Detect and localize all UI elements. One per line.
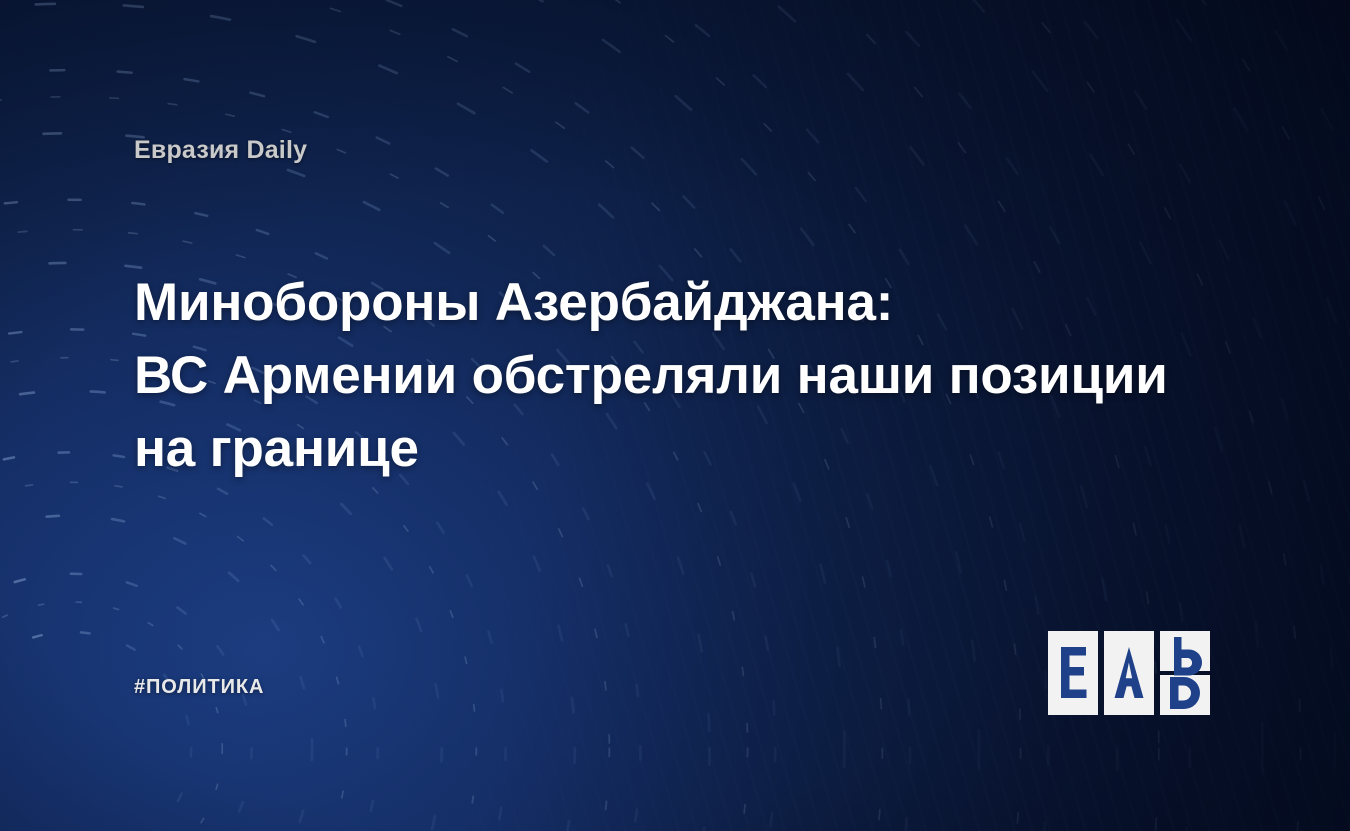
headline-line-1: Минобороны Азербайджана: — [134, 266, 1224, 339]
page-title: Минобороны Азербайджана: ВС Армении обст… — [134, 266, 1224, 485]
headline-line-2: ВС Армении обстреляли наши позиции — [134, 339, 1224, 412]
headline-line-3: на границе — [134, 412, 1224, 485]
ead-logo[interactable] — [1048, 631, 1224, 715]
category-hashtag[interactable]: #ПОЛИТИКА — [134, 676, 264, 699]
brand-name: Евразия Daily — [134, 136, 307, 165]
news-card: Евразия Daily Минобороны Азербайджана: В… — [0, 0, 1350, 831]
